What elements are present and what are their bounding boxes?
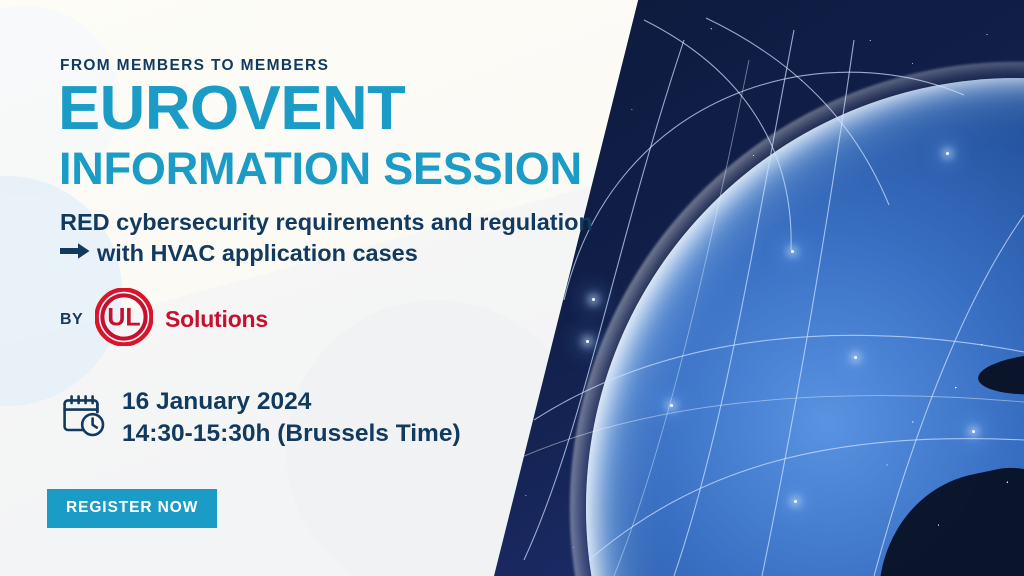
calendar-clock-icon: [60, 392, 108, 445]
network-node: [946, 152, 949, 155]
page-subtitle: INFORMATION SESSION: [59, 146, 582, 191]
schedule-text: 16 January 2024 14:30-15:30h (Brussels T…: [122, 386, 461, 451]
eurovent-information-session-banner: FROM MEMBERS TO MEMBERS EUROVENT INFORMA…: [0, 0, 1024, 576]
ul-logo-letters: UL: [107, 303, 140, 331]
network-node: [791, 250, 794, 253]
by-label: BY: [60, 311, 83, 329]
schedule-time: 14:30-15:30h (Brussels Time): [122, 418, 461, 450]
network-node: [794, 500, 797, 503]
session-description-line-1: RED cybersecurity requirements and regul…: [60, 207, 660, 238]
schedule-date: 16 January 2024: [122, 386, 461, 418]
session-description-line-2-text: with HVAC application cases: [97, 238, 418, 269]
register-now-button[interactable]: REGISTER NOW: [47, 489, 217, 528]
session-description: RED cybersecurity requirements and regul…: [60, 207, 660, 269]
session-description-line-2-row: with HVAC application cases: [60, 238, 660, 269]
eyebrow-text: FROM MEMBERS TO MEMBERS: [60, 57, 329, 75]
network-node: [972, 430, 975, 433]
page-title: EUROVENT: [58, 78, 405, 140]
presenter-lockup: BY UL Solutions: [60, 288, 268, 351]
right-arrow-icon: [60, 238, 90, 269]
schedule-block: 16 January 2024 14:30-15:30h (Brussels T…: [60, 386, 461, 451]
ul-wordmark: Solutions: [165, 306, 268, 333]
ul-logo-icon: UL: [95, 288, 153, 351]
network-node: [854, 356, 857, 359]
